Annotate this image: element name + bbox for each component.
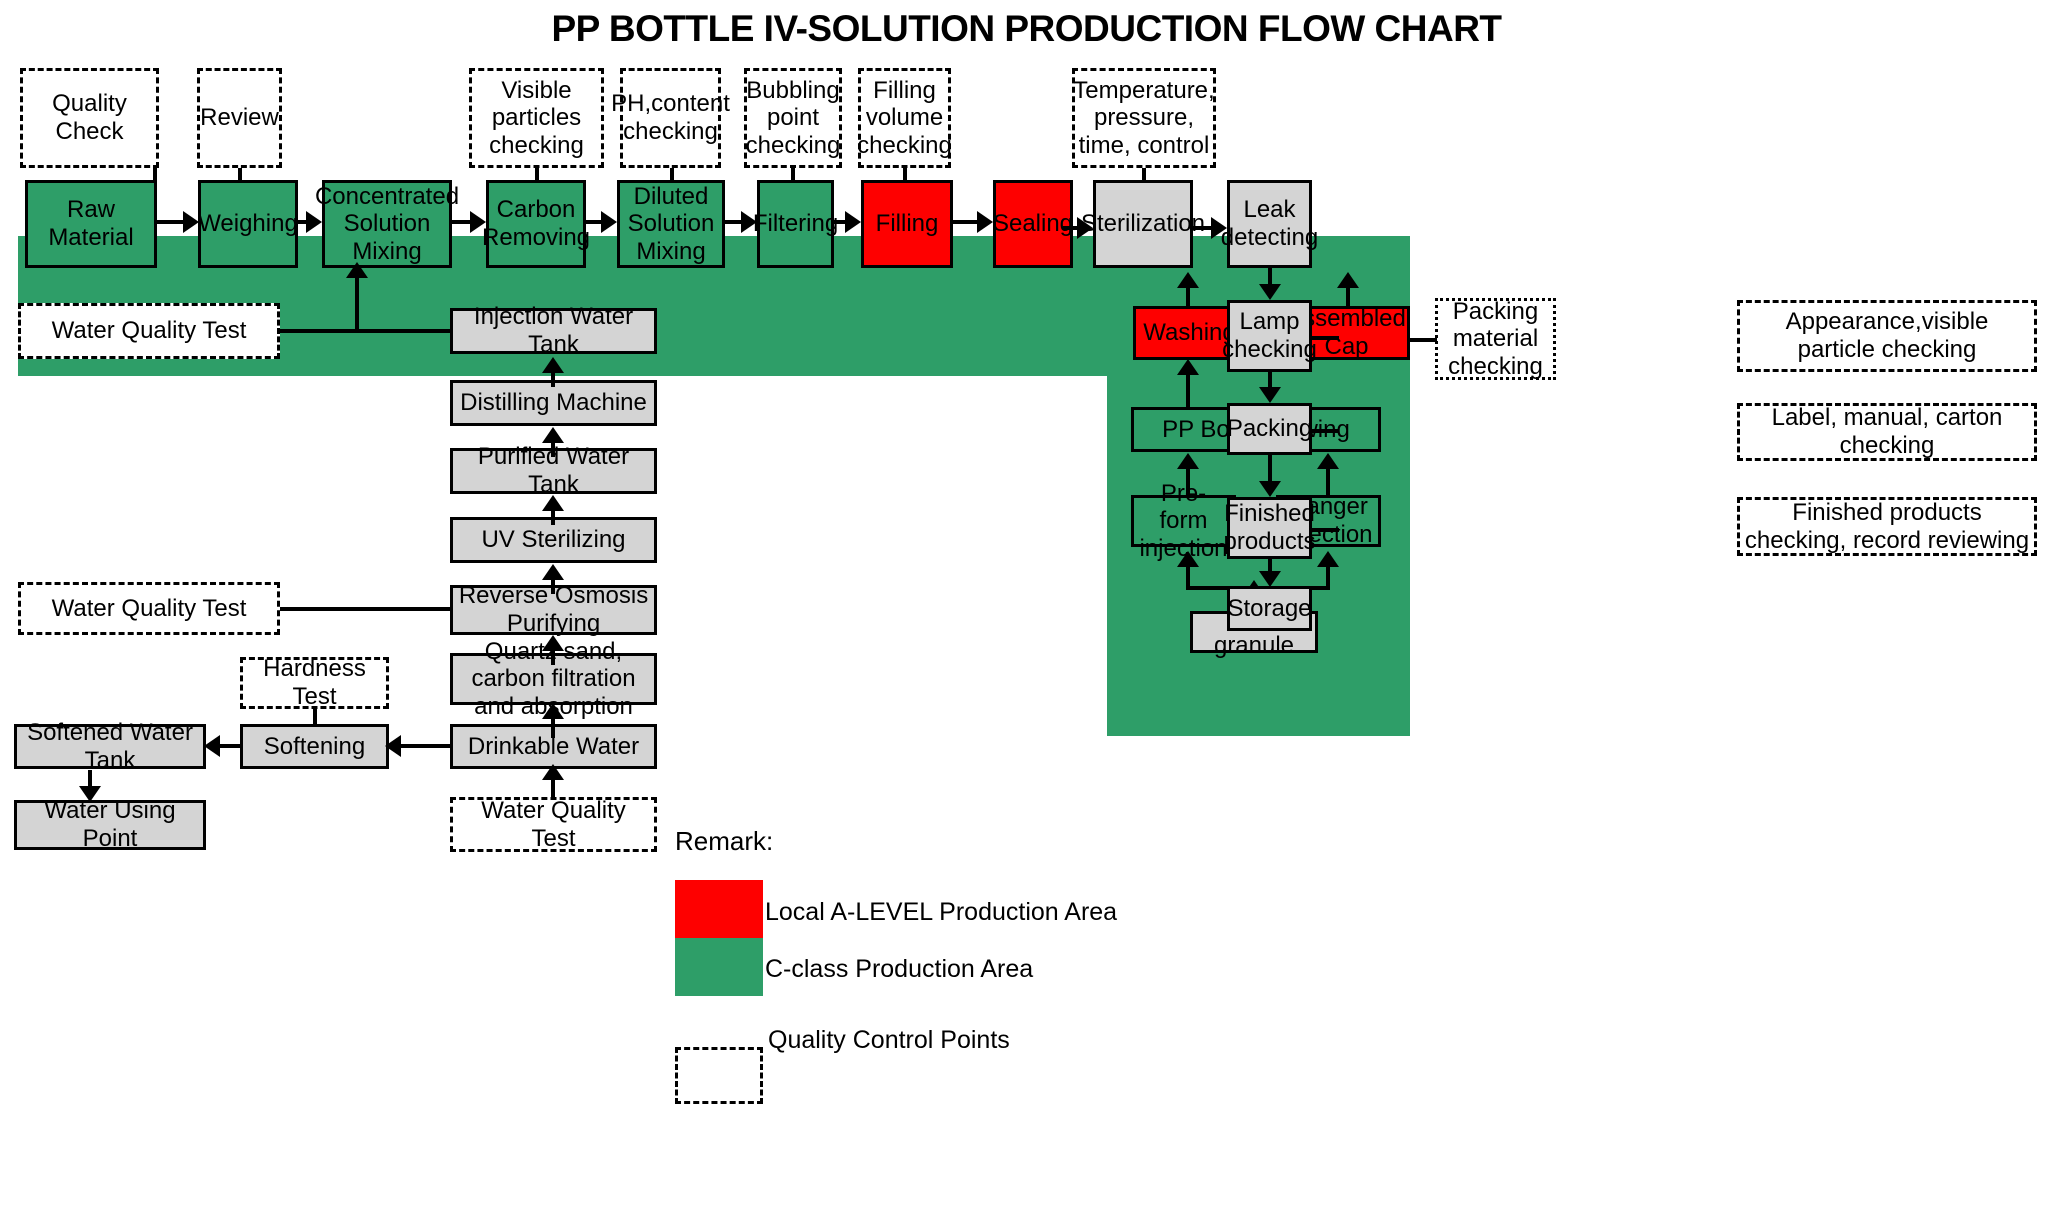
arrow-head-ro-to-uv xyxy=(542,564,564,580)
qc-box-water-quality-test-injection: Water Quality Test xyxy=(18,303,280,359)
arrow-line-filling-to-sealing xyxy=(953,220,977,224)
process-leak-detecting: Leak detecting xyxy=(1227,180,1312,268)
arrow-head-uv-to-purified xyxy=(542,495,564,511)
qc-box-packing-material-checking: Packing material checking xyxy=(1435,298,1556,380)
connector-finished-to-check xyxy=(1312,528,1339,532)
process-finished-products: Finished products xyxy=(1227,497,1312,559)
process-diluted-solution-mixing: Diluted Solution Mixing xyxy=(617,180,725,268)
process-packing: Packing xyxy=(1227,403,1312,455)
arrow-line-sealing-to-sterilization xyxy=(1063,226,1077,230)
arrow-line-carbon-to-diluted xyxy=(586,220,601,224)
process-softened-water-tank: Softened Water Tank xyxy=(14,724,206,769)
connector-hardness-to-softening xyxy=(313,709,317,727)
process-sealing: Sealing xyxy=(993,180,1073,268)
arrow-head-finished-to-storage xyxy=(1259,571,1281,587)
arrow-head-sterilization-to-leak xyxy=(1211,217,1227,239)
qc-box-water-quality-test-drinkable: Water Quality Test xyxy=(450,797,657,852)
arrow-head-injection-to-mixing xyxy=(346,262,368,278)
arrow-head-quartz-to-ro xyxy=(542,635,564,651)
qc-box-quality-check: Quality Check xyxy=(20,68,159,168)
legend-swatch-qc-points xyxy=(675,1047,763,1104)
process-raw-material: Raw Material xyxy=(25,180,157,268)
qc-box-temperature-pressure-time-control: Temperature, pressure, time, control xyxy=(1072,68,1216,168)
arrow-head-packing-to-finished xyxy=(1259,481,1281,497)
arrow-head-carbon-to-diluted xyxy=(601,211,617,233)
qc-box-appearance-visible-particle-checking: Appearance,visible particle checking xyxy=(1737,300,2037,372)
qc-box-bubbling-point-checking: Bubbling point checking xyxy=(744,68,842,168)
arrow-head-granule-to-hanger xyxy=(1317,551,1339,567)
flowchart-canvas: PP BOTTLE IV-SOLUTION PRODUCTION FLOW CH… xyxy=(0,0,2053,1206)
arrow-line-softening-to-tank xyxy=(218,744,242,748)
qc-box-water-quality-test-ro: Water Quality Test xyxy=(18,582,280,635)
arrow-head-softening-to-tank xyxy=(204,735,220,757)
connector-injection-to-mixing-horizontal xyxy=(280,329,452,333)
arrow-line-drinkable-to-softening xyxy=(398,744,450,748)
connector-lamp-to-appearance xyxy=(1312,336,1339,340)
arrow-head-cap-to-sealing xyxy=(1337,272,1359,288)
process-sterilization: Sterilization xyxy=(1093,180,1193,268)
legend-label-a-level: Local A-LEVEL Production Area xyxy=(765,898,1117,927)
legend-swatch-c-class xyxy=(675,938,763,996)
arrow-line-lamp-to-packing xyxy=(1268,372,1272,387)
arrow-head-blowing-to-washing xyxy=(1177,359,1199,375)
arrow-line-concentrated-to-carbon xyxy=(452,220,470,224)
page-title: PP BOTTLE IV-SOLUTION PRODUCTION FLOW CH… xyxy=(0,8,2053,50)
arrow-head-lamp-to-packing xyxy=(1259,387,1281,403)
process-softening: Softening xyxy=(240,724,389,769)
process-concentrated-solution-mixing: Concentrated Solution Mixing xyxy=(322,180,452,268)
arrow-head-raw-to-weighing xyxy=(183,211,199,233)
process-filtering: Filtering xyxy=(757,180,834,268)
process-lamp-checking: Lamp checking xyxy=(1227,300,1312,372)
arrow-head-purified-to-distilling xyxy=(542,427,564,443)
arrow-head-diluted-to-filtering xyxy=(741,211,757,233)
arrow-head-weighing-to-concentrated xyxy=(306,211,322,233)
process-filling: Filling xyxy=(861,180,953,268)
legend-remark-label: Remark: xyxy=(675,826,773,857)
arrow-head-hanger-to-blowing xyxy=(1317,453,1339,469)
qc-box-finished-products-checking: Finished products checking, record revie… xyxy=(1737,497,2037,556)
arrow-head-drinkable-to-quartz xyxy=(542,703,564,719)
arrow-line-finished-to-storage xyxy=(1268,559,1272,571)
connector-injection-to-mixing-vertical xyxy=(355,271,359,331)
arrow-head-tank-to-usingpoint xyxy=(79,786,101,802)
connector-packing-to-label xyxy=(1312,429,1339,433)
process-weighing: Weighing xyxy=(198,180,298,268)
connector-waterqc-to-ro xyxy=(280,607,452,611)
qc-box-label-manual-carton-checking: Label, manual, carton checking xyxy=(1737,403,2037,461)
arrow-line-packing-to-finished xyxy=(1268,455,1272,481)
process-storage: Storage xyxy=(1227,586,1312,631)
arrow-head-waterqc-to-drinkable xyxy=(542,764,564,780)
arrow-head-preform-to-blowing xyxy=(1177,453,1199,469)
arrow-line-raw-to-weighing xyxy=(157,220,183,224)
legend-label-c-class: C-class Production Area xyxy=(765,955,1033,984)
qc-box-ph-content-checking: PH,content checking xyxy=(620,68,721,168)
process-pre-form-injection: Pre-form injection xyxy=(1131,495,1236,547)
process-carbon-removing: Carbon Removing xyxy=(486,180,586,268)
arrow-line-diluted-to-filtering xyxy=(725,220,741,224)
arrow-head-distilling-to-injection xyxy=(542,357,564,373)
arrow-line-sterilization-to-leak xyxy=(1193,226,1211,230)
arrow-head-washing-to-filling xyxy=(1177,272,1199,288)
legend-label-qc-points: Quality Control Points xyxy=(768,1026,1010,1055)
qc-box-review: Review xyxy=(197,68,282,168)
arrow-head-concentrated-to-carbon xyxy=(470,211,486,233)
qc-box-visible-particles-checking: Visible particles checking xyxy=(469,68,604,168)
arrow-head-granule-to-preform xyxy=(1177,551,1199,567)
arrow-head-sealing-to-sterilization xyxy=(1077,217,1093,239)
process-water-using-point: Water Using Point xyxy=(14,800,206,850)
arrow-head-leak-to-lamp xyxy=(1259,284,1281,300)
process-injection-water-tank: Injection Water Tank xyxy=(450,308,657,354)
connector-cap-to-packing-material xyxy=(1410,338,1437,342)
legend-swatch-a-level xyxy=(675,880,763,938)
qc-box-filling-volume-checking: Filling volume checking xyxy=(858,68,951,168)
arrow-head-filling-to-sealing xyxy=(977,211,993,233)
arrow-head-drinkable-to-softening xyxy=(385,735,401,757)
qc-box-hardness-test: Hardness Test xyxy=(240,657,389,709)
arrow-head-filtering-to-filling xyxy=(845,211,861,233)
